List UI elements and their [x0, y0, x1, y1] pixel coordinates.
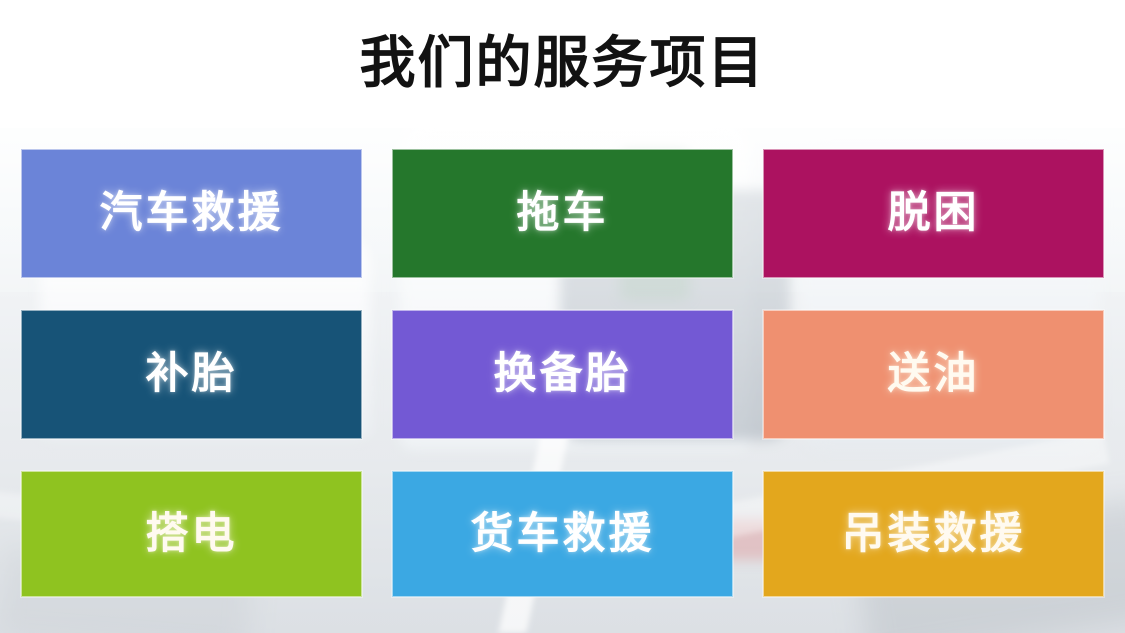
- service-tile-spare-tire[interactable]: 换备胎: [392, 310, 733, 439]
- service-tile-truck-rescue[interactable]: 货车救援: [392, 471, 733, 597]
- service-tile-label: 吊装救援: [842, 513, 1026, 556]
- service-tile-car-rescue[interactable]: 汽车救援: [21, 149, 362, 278]
- service-tile-label: 送油: [888, 353, 980, 396]
- service-tile-label: 汽车救援: [100, 192, 284, 235]
- service-tile-label: 补胎: [146, 353, 238, 396]
- service-tile-label: 搭电: [146, 513, 238, 556]
- service-tile-crane-rescue[interactable]: 吊装救援: [763, 471, 1104, 597]
- service-tile-jump-start[interactable]: 搭电: [21, 471, 362, 597]
- service-poster: 我们的服务项目 汽车救援 拖车 脱困 补胎 换备胎 送油 搭电 货车救援 吊装救…: [0, 0, 1125, 633]
- service-tile-label: 换备胎: [494, 353, 632, 396]
- service-tile-label: 货车救援: [471, 513, 655, 556]
- service-tile-label: 拖车: [517, 192, 609, 235]
- service-tile-fuel-delivery[interactable]: 送油: [763, 310, 1104, 439]
- title-bar: 我们的服务项目: [0, 0, 1125, 128]
- service-tile-extrication[interactable]: 脱困: [763, 149, 1104, 278]
- service-tile-towing[interactable]: 拖车: [392, 149, 733, 278]
- service-tile-label: 脱困: [888, 192, 980, 235]
- page-title: 我们的服务项目: [360, 36, 766, 92]
- service-tile-tire-repair[interactable]: 补胎: [21, 310, 362, 439]
- service-grid: 汽车救援 拖车 脱困 补胎 换备胎 送油 搭电 货车救援 吊装救援: [21, 149, 1103, 597]
